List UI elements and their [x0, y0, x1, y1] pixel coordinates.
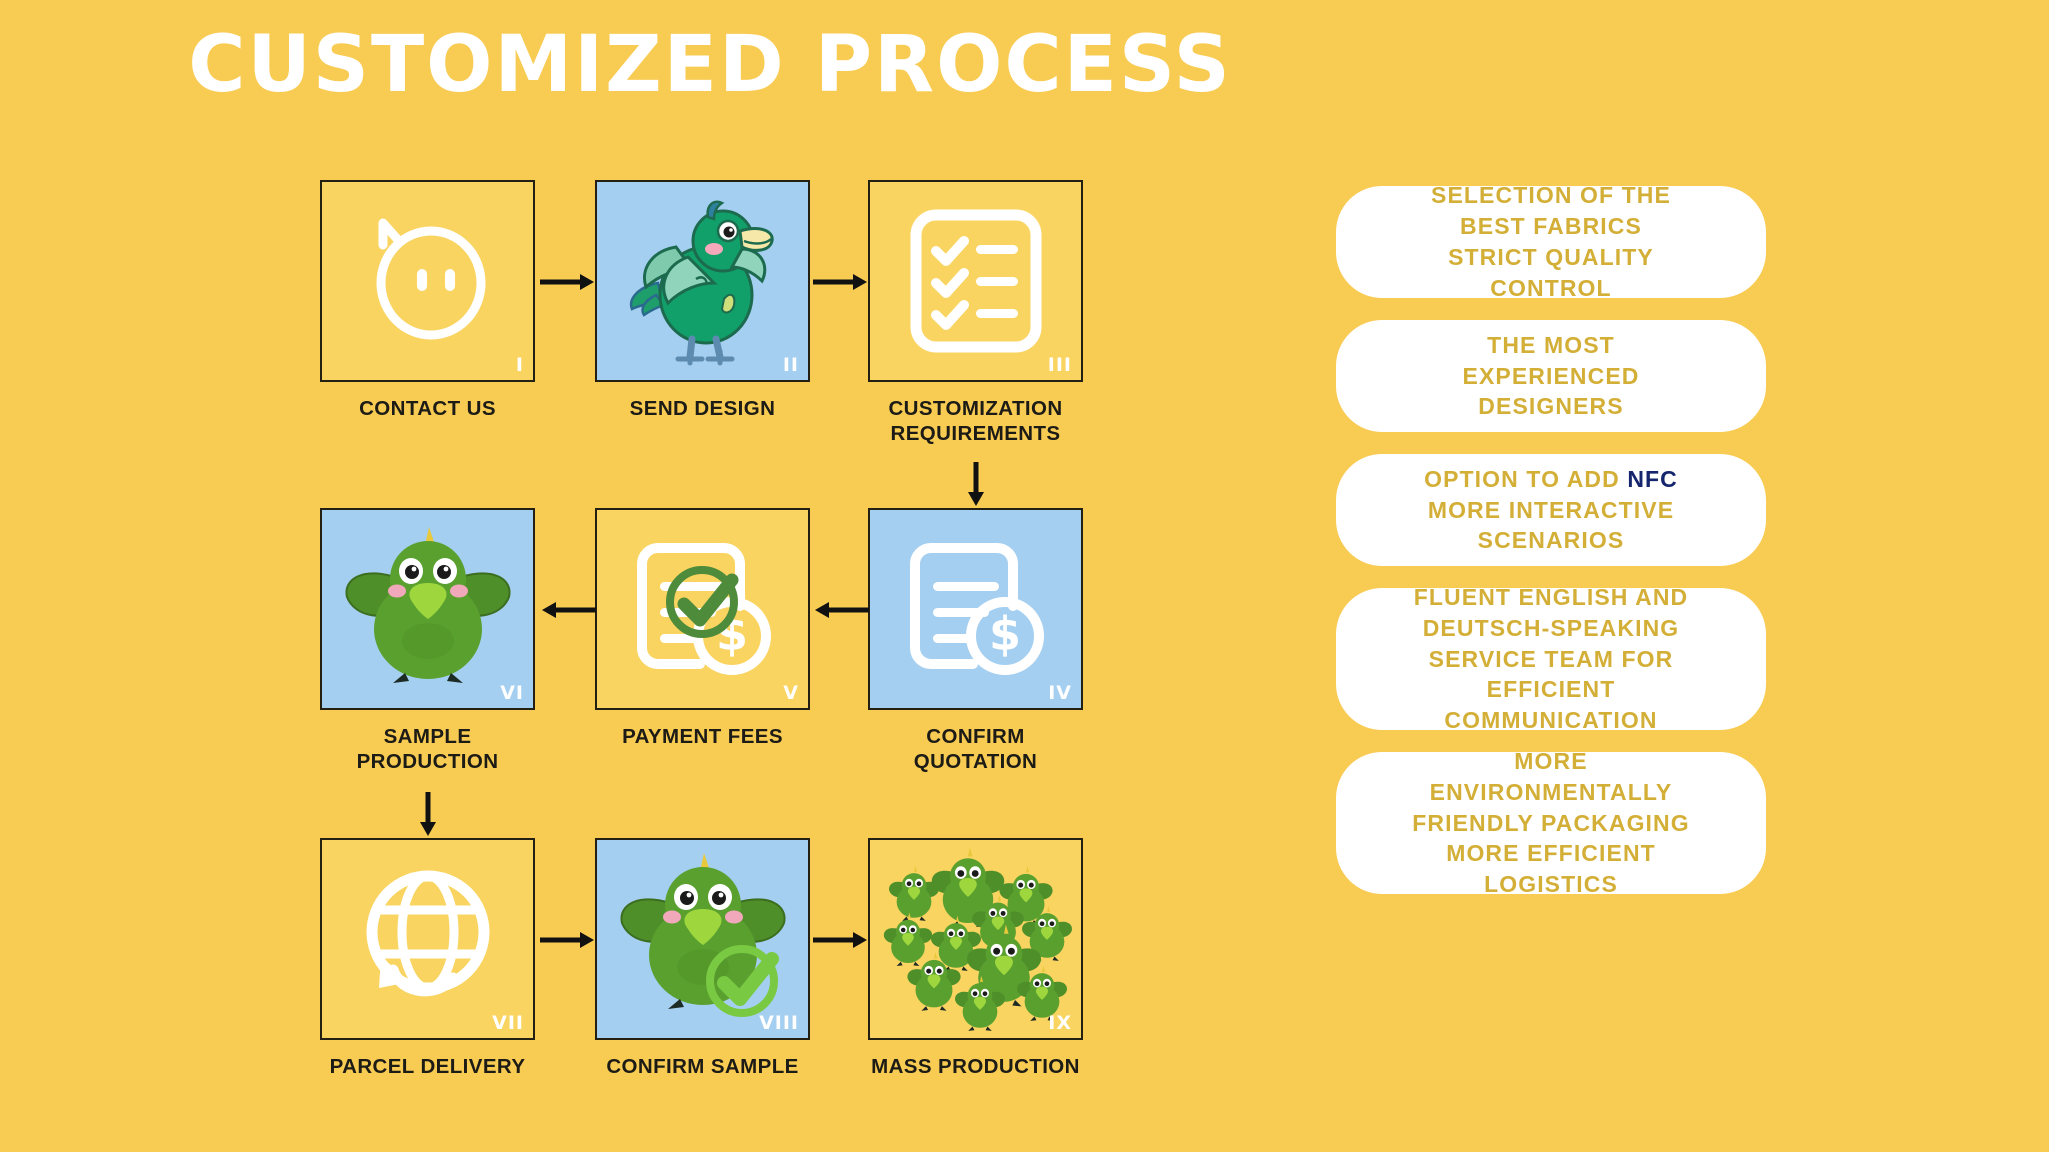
step-box-vii[interactable]: VII	[320, 838, 535, 1040]
feature-line: FRIENDLY PACKAGING	[1412, 808, 1690, 839]
step-box-iii[interactable]: III	[868, 180, 1083, 382]
step-label: CONFIRMQUOTATION	[868, 724, 1083, 774]
document-dollar-icon: $	[870, 510, 1081, 708]
feature-line: SCENARIOS	[1424, 525, 1678, 556]
feature-card-text: OPTION TO ADD NFC MORE INTERACTIVE SCENA…	[1424, 464, 1678, 556]
parrot-drawing-icon	[597, 182, 808, 380]
step-box-ii[interactable]: II	[595, 180, 810, 382]
step-customization-requirements[interactable]: III CUSTOMIZATIONREQUIREMENTS	[868, 180, 1083, 446]
feature-card-fabrics-quality[interactable]: SELECTION OF THE BEST FABRICS STRICT QUA…	[1336, 186, 1766, 298]
feature-line: DEUTSCH-SPEAKING	[1414, 613, 1689, 644]
feature-line: SERVICE TEAM FOR	[1414, 644, 1689, 675]
feature-line: MORE	[1412, 746, 1690, 777]
step-label: CONFIRM SAMPLE	[595, 1054, 810, 1079]
feature-card-eco-packaging[interactable]: MORE ENVIRONMENTALLY FRIENDLY PACKAGING …	[1336, 752, 1766, 894]
feature-card-text: THE MOST EXPERIENCED DESIGNERS	[1463, 330, 1640, 422]
arrow-confirm-quotation-to-payment	[813, 600, 869, 620]
arrow-payment-to-sample	[540, 600, 596, 620]
step-box-v[interactable]: $ V	[595, 508, 810, 710]
step-numeral: VIII	[759, 1012, 799, 1034]
step-box-vi[interactable]: VI	[320, 508, 535, 710]
step-contact-us[interactable]: I CONTACT US	[320, 180, 535, 421]
feature-line: FLUENT ENGLISH AND	[1414, 582, 1689, 613]
step-label: SAMPLEPRODUCTION	[320, 724, 535, 774]
chat-face-icon	[322, 182, 533, 380]
feature-card-language-support[interactable]: FLUENT ENGLISH AND DEUTSCH-SPEAKING SERV…	[1336, 588, 1766, 730]
arrow-send-to-customization	[813, 272, 869, 292]
feature-line-text: OPTION TO ADD	[1424, 466, 1627, 492]
feature-line: LOGISTICS	[1412, 869, 1690, 900]
feature-card-text: SELECTION OF THE BEST FABRICS STRICT QUA…	[1431, 180, 1671, 303]
step-mass-production[interactable]: IX MASS PRODUCTION	[868, 838, 1083, 1079]
page-title: CUSTOMIZED PROCESS	[0, 26, 1420, 104]
step-box-ix[interactable]: IX	[868, 838, 1083, 1040]
svg-text:$: $	[988, 607, 1020, 661]
step-confirm-sample[interactable]: VIII CONFIRM SAMPLE	[595, 838, 810, 1079]
step-box-viii[interactable]: VIII	[595, 838, 810, 1040]
plush-parrot-check-icon	[597, 840, 808, 1038]
feature-line: EXPERIENCED	[1463, 361, 1640, 392]
step-numeral: IV	[1048, 682, 1072, 704]
many-plush-parrots-icon	[870, 840, 1081, 1038]
arrow-sample-to-parcel	[418, 792, 438, 838]
feature-line: THE MOST	[1463, 330, 1640, 361]
feature-line: MORE EFFICIENT	[1412, 838, 1690, 869]
step-confirm-quotation[interactable]: $ IV CONFIRMQUOTATION	[868, 508, 1083, 774]
feature-line: OPTION TO ADD NFC	[1424, 464, 1678, 495]
step-numeral: I	[516, 354, 524, 376]
step-label: PARCEL DELIVERY	[320, 1054, 535, 1079]
feature-line: COMMUNICATION	[1414, 705, 1689, 736]
step-label: CONTACT US	[320, 396, 535, 421]
step-numeral: V	[783, 682, 799, 704]
step-label: PAYMENT FEES	[595, 724, 810, 749]
step-numeral: IX	[1048, 1012, 1072, 1034]
plush-parrot-icon	[322, 510, 533, 708]
feature-line: MORE INTERACTIVE	[1424, 495, 1678, 526]
feature-card-experienced-designers[interactable]: THE MOST EXPERIENCED DESIGNERS	[1336, 320, 1766, 432]
checklist-icon	[870, 182, 1081, 380]
step-label: CUSTOMIZATIONREQUIREMENTS	[868, 396, 1083, 446]
feature-line: DESIGNERS	[1463, 391, 1640, 422]
nfc-highlight: NFC	[1627, 466, 1678, 492]
step-box-i[interactable]: I	[320, 180, 535, 382]
feature-card-list: SELECTION OF THE BEST FABRICS STRICT QUA…	[1336, 186, 1766, 916]
globe-shipping-icon	[322, 840, 533, 1038]
arrow-parcel-to-confirm-sample	[540, 930, 596, 950]
feature-card-text: MORE ENVIRONMENTALLY FRIENDLY PACKAGING …	[1412, 746, 1690, 900]
feature-line: STRICT QUALITY	[1431, 242, 1671, 273]
feature-line: SELECTION OF THE	[1431, 180, 1671, 211]
arrow-customization-to-confirm-quotation	[966, 462, 986, 508]
step-numeral: III	[1048, 354, 1072, 376]
feature-line: CONTROL	[1431, 273, 1671, 304]
feature-line: ENVIRONMENTALLY	[1412, 777, 1690, 808]
step-numeral: VI	[500, 682, 524, 704]
step-numeral: II	[783, 354, 799, 376]
arrow-contact-to-send	[540, 272, 596, 292]
step-send-design[interactable]: II SEND DESIGN	[595, 180, 810, 421]
step-label: SEND DESIGN	[595, 396, 810, 421]
step-parcel-delivery[interactable]: VII PARCEL DELIVERY	[320, 838, 535, 1079]
arrow-confirm-sample-to-mass	[813, 930, 869, 950]
step-payment-fees[interactable]: $ V PAYMENT FEES	[595, 508, 810, 749]
step-numeral: VII	[492, 1012, 524, 1034]
process-flow-diagram: I CONTACT US	[0, 180, 1360, 1110]
feature-card-text: FLUENT ENGLISH AND DEUTSCH-SPEAKING SERV…	[1414, 582, 1689, 736]
step-box-iv[interactable]: $ IV	[868, 508, 1083, 710]
feature-line: BEST FABRICS	[1431, 211, 1671, 242]
document-dollar-check-icon: $	[597, 510, 808, 708]
step-label: MASS PRODUCTION	[868, 1054, 1083, 1079]
feature-card-nfc-option[interactable]: OPTION TO ADD NFC MORE INTERACTIVE SCENA…	[1336, 454, 1766, 566]
step-sample-production[interactable]: VI SAMPLEPRODUCTION	[320, 508, 535, 774]
feature-line: EFFICIENT	[1414, 674, 1689, 705]
